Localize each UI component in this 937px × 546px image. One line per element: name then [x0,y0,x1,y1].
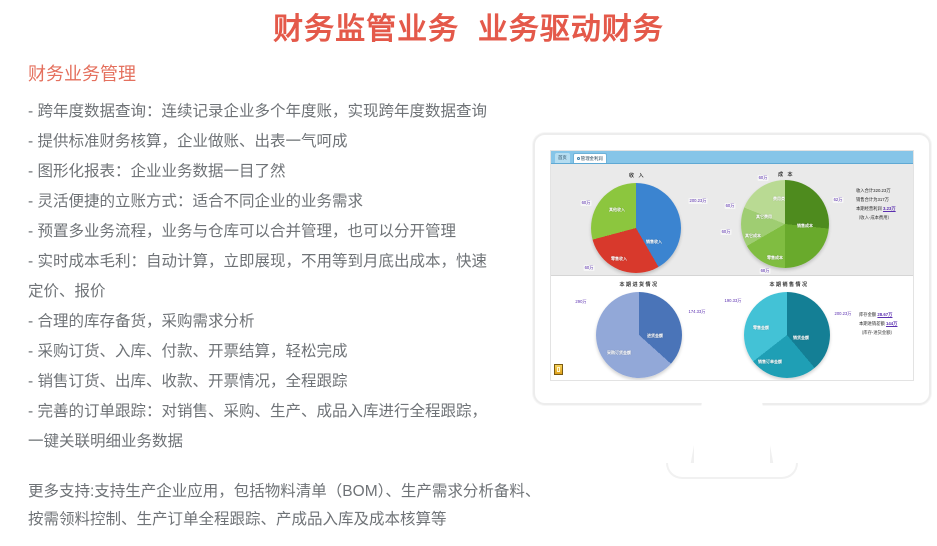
stat-value: 28.67万 [877,312,892,317]
pie-chart-income[interactable] [591,183,681,273]
page-root: 财务监管业务 业务驱动财务 财务业务管理 - 跨年度数据查询：连续记录企业多个年… [0,0,937,546]
chart-title-sales: 本期销售情况 [769,281,808,288]
pie-slice-label: 采购订货金额 [607,350,631,356]
pie-value-label: 60万 [721,229,732,235]
list-item: - 实时成本毛利：自动计算，立即展现，不用等到月底出成本，快速 定价、报价 [28,247,538,307]
stat-label: 本期经营利润 [856,206,882,211]
stat-note: （收入-成本费用） [856,213,896,222]
feature-list: - 跨年度数据查询：连续记录企业多个年度账，实现跨年度数据查询 - 提供标准财务… [28,97,538,457]
pie-value-label: 174.33万 [688,309,707,315]
pie-value-label: 200.23万 [834,311,853,317]
pie-slice-label: 费用类 [773,196,785,202]
list-item: - 合理的库存备货，采购需求分析 [28,307,538,337]
chart-title-cost: 成 本 [778,171,794,178]
monitor-illustration: 首页 管理金利润 收 入 销售收入 零售收入 其他收入 200.23万 [533,133,931,405]
pie-slice-label: 其它费用 [756,214,772,220]
pie-value-label: 68万 [760,268,771,274]
list-item: - 灵活便捷的立账方式：适合不同企业的业务需求 [28,187,538,217]
document-icon [554,364,563,375]
dashboard: 首页 管理金利润 收 入 销售收入 零售收入 其他收入 200.23万 [551,151,913,380]
stat-line: 本期经营利润 3.23万 [856,204,896,213]
chart-title-income: 收 入 [629,172,645,179]
pie-slice-label: 零售收入 [611,256,627,262]
tab-profit-label: 管理金利润 [581,156,603,162]
pie-value-label: 190.33万 [724,298,743,304]
stat-value: 144万 [886,321,897,326]
circle-icon [577,157,580,160]
tab-home-label: 首页 [558,155,567,161]
tab-home[interactable]: 首页 [555,153,570,163]
list-item: - 提供标准财务核算，企业做账、出表一气呵成 [28,127,538,157]
panel-income-cost: 收 入 销售收入 零售收入 其他收入 200.23万 60万 60万 成 本 销… [551,164,913,276]
list-item: - 采购订货、入库、付款、开票结算，轻松完成 [28,337,538,367]
list-item: - 预置多业务流程，业务与仓库可以合并管理，也可以分开管理 [28,217,538,247]
monitor-screen: 首页 管理金利润 收 入 销售收入 零售收入 其他收入 200.23万 [550,150,914,381]
pie-slice-label: 零售金额 [753,325,769,331]
tab-profit[interactable]: 管理金利润 [573,153,607,163]
pie-value-label: 60万 [581,200,592,206]
list-item: - 销售订货、出库、收款、开票情况，全程跟踪 [28,367,538,397]
pie-chart-cost[interactable] [741,180,829,268]
pie-slice-label: 销货金额 [793,335,809,341]
list-item: - 完善的订单跟踪：对销售、采购、生产、成品入库进行全程跟踪， 一键关联明细业务… [28,397,538,457]
pie-slice-label: 其他收入 [609,207,625,213]
pie-slice-label: 销售收入 [646,239,662,245]
stat-line: 本期进销差额 144万 [859,319,897,328]
pie-slice-label: 零售成本 [767,255,783,261]
page-title: 财务监管业务 业务驱动财务 [0,4,937,48]
pie-chart-purchase[interactable] [596,292,682,378]
dashboard-tabbar: 首页 管理金利润 [551,151,913,164]
pie-slice-label: 其它成本 [745,233,761,239]
stat-line: 库存金额 28.67万 [859,310,897,319]
pie-value-label: 290万 [574,299,587,305]
section-title: 财务业务管理 [28,60,136,86]
pie-slice-label: 销售订单金额 [758,359,782,365]
panel-purchase-sales: 本期进货情况 进货金额 采购订货金额 174.33万 290万 本期销售情况 销… [551,276,913,379]
pie-slice-label: 销售成本 [797,223,813,229]
stat-line: 收入合计320.23万 [856,186,896,195]
monitor-stand-base [666,463,798,479]
pie-slice-label: 进货金额 [647,333,663,339]
pie-value-label: 200.23万 [689,198,708,204]
chart-title-purchase: 本期进货情况 [619,281,658,288]
pie-value-label: 60万 [584,265,595,271]
stat-value: 3.23万 [883,206,896,211]
list-item: - 跨年度数据查询：连续记录企业多个年度账，实现跨年度数据查询 [28,97,538,127]
pie-value-label: 60万 [758,175,769,181]
stat-note: （库存-进货金额） [859,328,897,337]
pie-chart-sales[interactable] [744,292,830,378]
list-item: - 图形化报表：企业业务数据一目了然 [28,157,538,187]
stats-income-summary: 收入合计320.23万 销售合计为317万 本期经营利润 3.23万 （收入-成… [856,186,896,222]
stat-line: 销售合计为317万 [856,195,896,204]
pie-value-label: 60万 [725,203,736,209]
stats-inventory-summary: 库存金额 28.67万 本期进销差额 144万 （库存-进货金额） [859,310,897,337]
more-support-text: 更多支持:支持生产企业应用，包括物料清单（BOM）、生产需求分析备料、 按需领料… [28,478,608,534]
monitor-stand-neck [690,403,774,467]
pie-value-label: 62万 [833,197,844,203]
stat-label: 本期进销差额 [859,321,885,326]
stat-label: 库存金额 [859,312,876,317]
